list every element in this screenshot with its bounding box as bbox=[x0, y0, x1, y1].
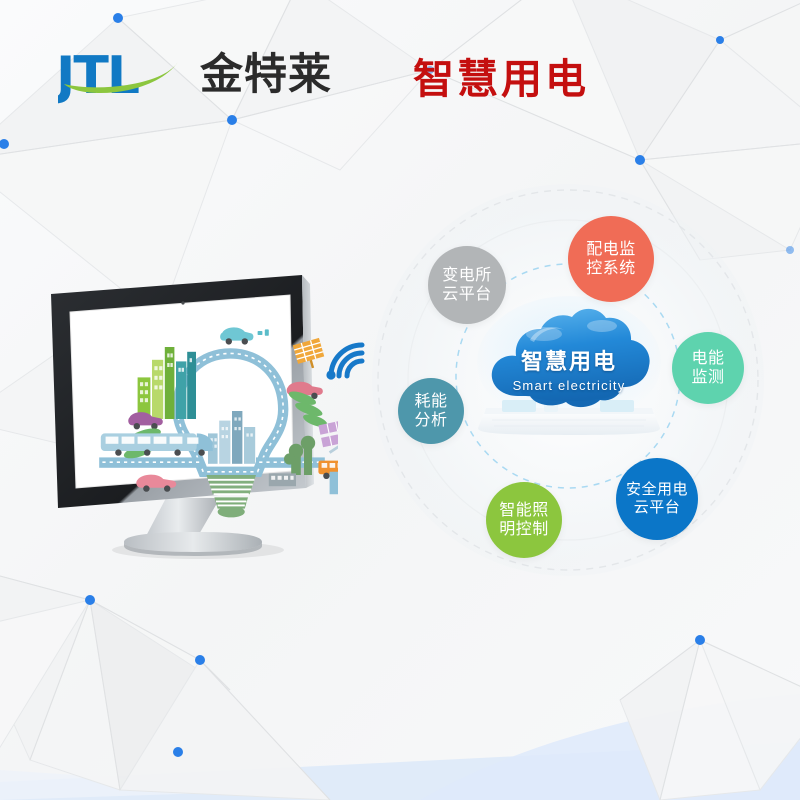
brand-name-cn: 金特莱 bbox=[200, 46, 332, 104]
bubble-label-line: 明控制 bbox=[499, 520, 549, 539]
jtl-swoosh-logo-icon: JTL bbox=[58, 46, 186, 104]
desktop-monitor-illustration bbox=[48, 272, 338, 564]
cloud-title-en: Smart electricity bbox=[474, 378, 664, 393]
bubble-safe-electricity-cloud[interactable]: 安全用电云平台 bbox=[616, 458, 698, 540]
bubble-consumption-analysis[interactable]: 耗能分析 bbox=[398, 378, 464, 444]
bubble-label-line: 分析 bbox=[414, 411, 447, 430]
cloud-title-cn: 智慧用电 bbox=[474, 344, 664, 376]
monitor-icon bbox=[48, 272, 338, 564]
bubble-label-line: 配电监 bbox=[586, 240, 636, 259]
cloud-label: 智慧用电 Smart electricity bbox=[474, 344, 664, 393]
bubble-label-line: 云平台 bbox=[634, 499, 681, 517]
bubble-label-line: 监测 bbox=[691, 368, 724, 387]
bubble-label-line: 耗能 bbox=[414, 392, 447, 411]
bubble-label-line: 云平台 bbox=[442, 285, 492, 304]
bubble-label-line: 安全用电 bbox=[626, 481, 688, 499]
bubble-label-line: 变电所 bbox=[442, 266, 492, 285]
bubble-energy-metering[interactable]: 电能监测 bbox=[672, 332, 744, 404]
poster-header: JTL 金特莱 智慧用电 bbox=[0, 0, 800, 140]
central-cloud: 智慧用电 Smart electricity bbox=[474, 296, 664, 456]
bubble-label-line: 控系统 bbox=[586, 259, 636, 278]
poster-canvas: JTL 金特莱 智慧用电 bbox=[0, 0, 800, 800]
smart-electricity-bubble-diagram: 智慧用电 Smart electricity 配电监控系统变电所云平台电能监测耗… bbox=[368, 180, 768, 580]
svg-text:JTL: JTL bbox=[58, 46, 139, 104]
bubble-substation-cloud[interactable]: 变电所云平台 bbox=[428, 246, 506, 324]
brand-logo: JTL 金特莱 bbox=[58, 44, 332, 106]
bubble-distribution-monitoring[interactable]: 配电监控系统 bbox=[568, 216, 654, 302]
page-title: 智慧用电 bbox=[413, 50, 589, 108]
bubble-label-line: 电能 bbox=[691, 349, 724, 368]
bubble-label-line: 智能照 bbox=[499, 501, 549, 520]
wifi-signal-icon bbox=[318, 332, 374, 388]
bubble-smart-lighting-control[interactable]: 智能照明控制 bbox=[486, 482, 562, 558]
